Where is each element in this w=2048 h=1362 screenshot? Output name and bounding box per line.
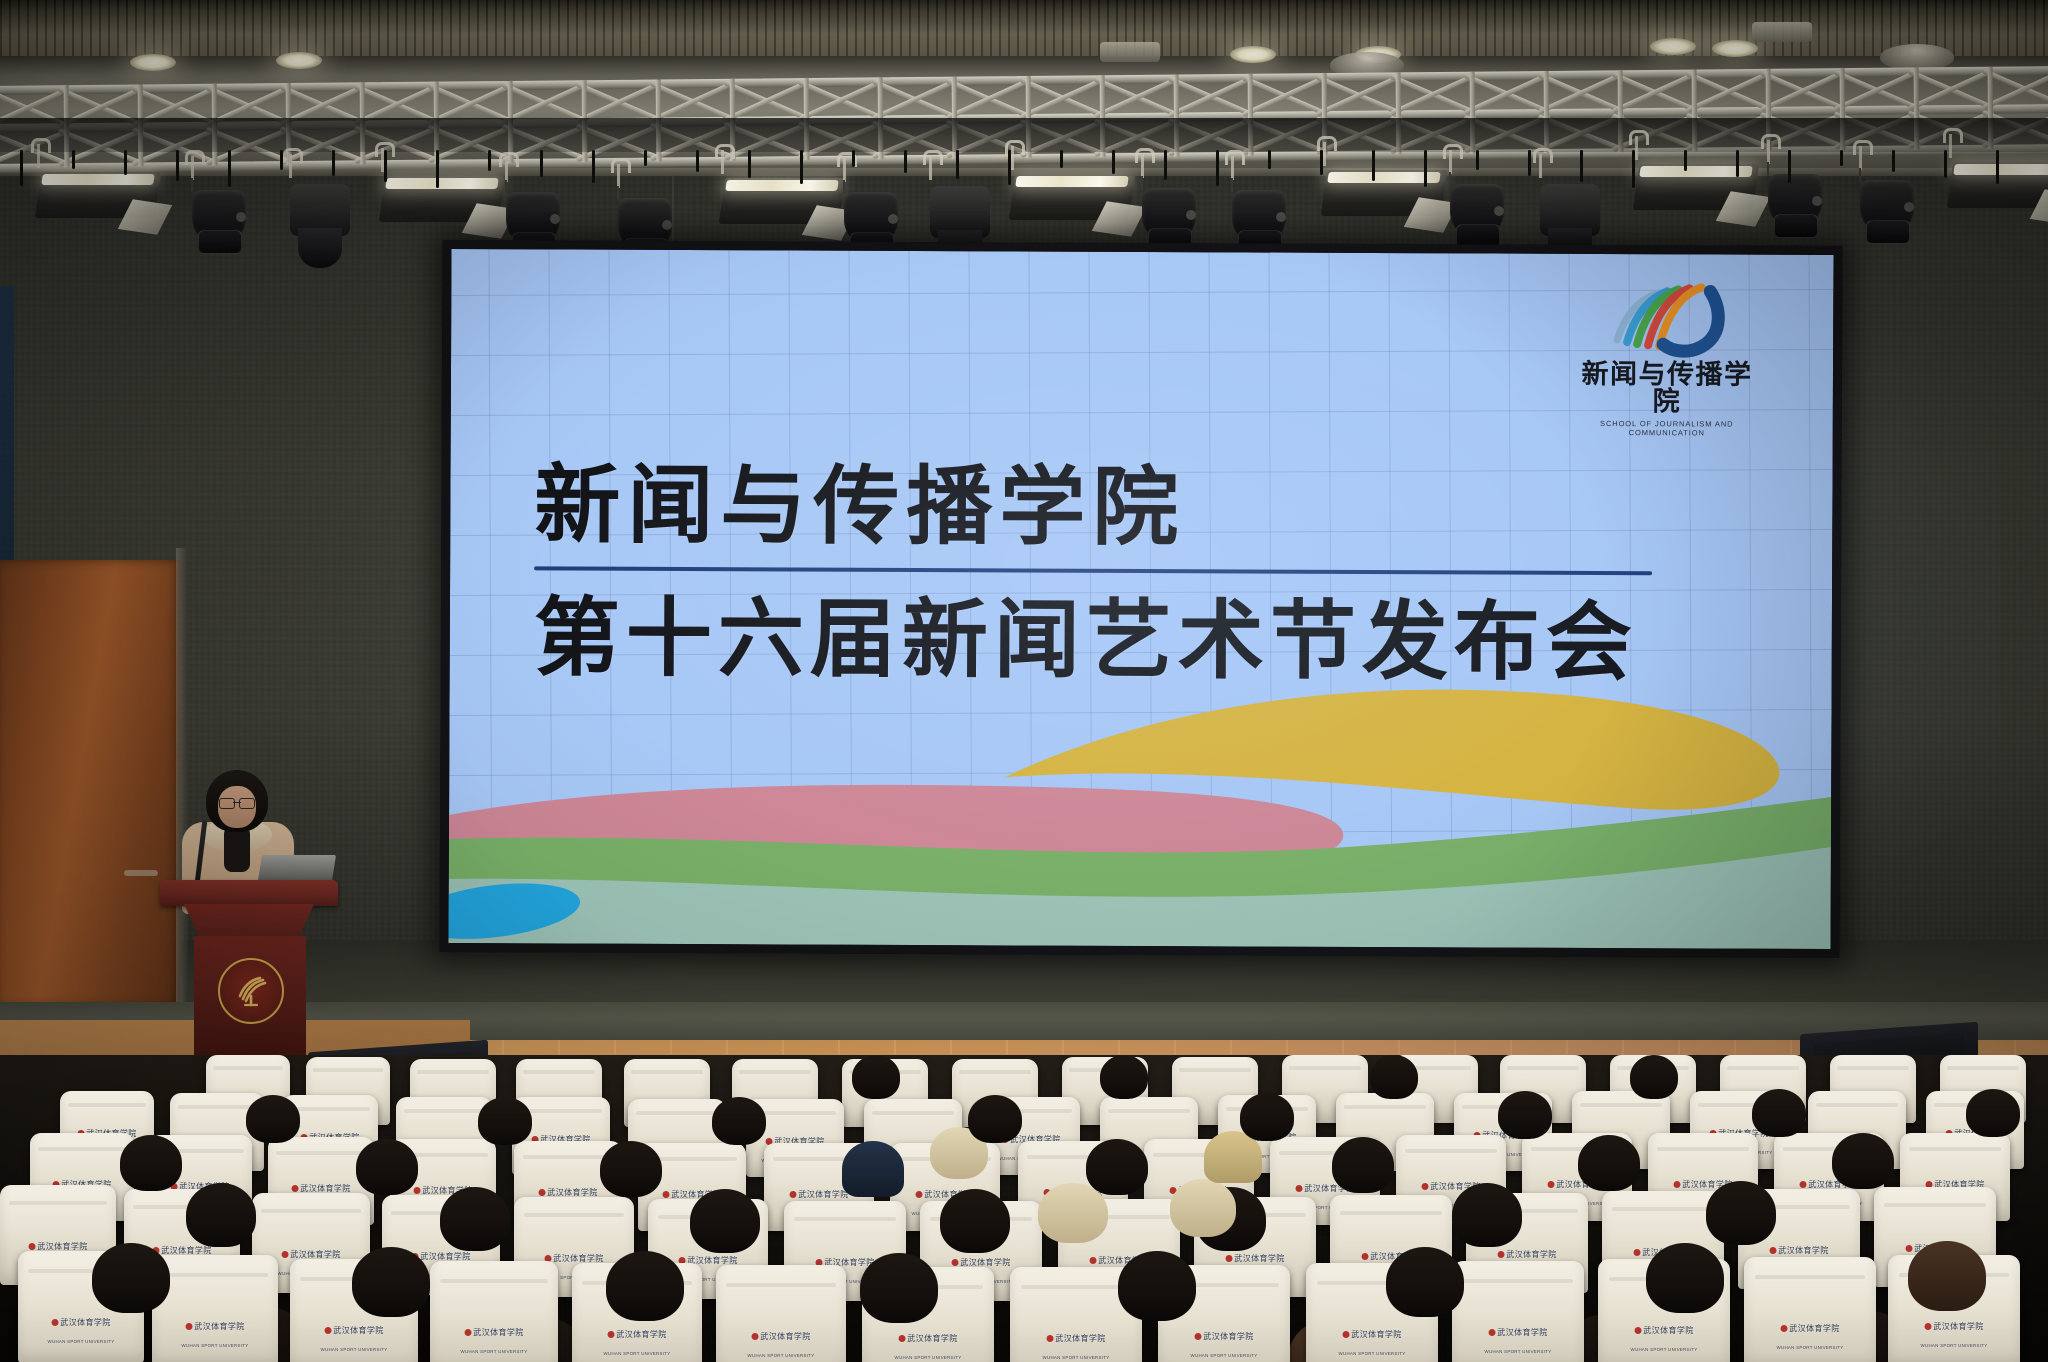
- audience-member-head: [92, 1243, 170, 1313]
- audience-member-head: [1170, 1179, 1236, 1237]
- ceiling-downlight: [1230, 46, 1276, 63]
- chair-cover-logo: 武汉体育学院WUHAN SPORT UNIVERSITY: [748, 1326, 815, 1362]
- audience-member-head: [690, 1189, 760, 1253]
- audience-member-head: [1240, 1093, 1294, 1141]
- chair-cover-logo: 武汉体育学院WUHAN SPORT UNIVERSITY: [461, 1322, 528, 1358]
- lighting-cable: [904, 150, 907, 173]
- podium-neck: [184, 904, 314, 938]
- audience-member-head: [1908, 1241, 1986, 1311]
- chair-cover-logo: 武汉体育学院WUHAN SPORT UNIVERSITY: [321, 1320, 388, 1356]
- podium: [168, 880, 330, 1056]
- audience-seating: 武汉体育学院WUHAN SPORT UNIVERSITY武汉体育学院WUHAN …: [0, 1055, 2048, 1362]
- lighting-cable: [1008, 150, 1011, 185]
- lighting-cable: [644, 150, 647, 166]
- audience-member-head: [842, 1141, 904, 1197]
- audience-chair: 武汉体育学院WUHAN SPORT UNIVERSITY: [152, 1255, 278, 1362]
- podium-laptop[interactable]: [258, 855, 336, 881]
- lighting-cable: [332, 150, 335, 176]
- ceiling-vent: [1752, 22, 1812, 42]
- lighting-cable: [1736, 150, 1739, 177]
- lighting-cable: [436, 150, 439, 188]
- lighting-cable: [124, 150, 127, 175]
- stage-door[interactable]: [0, 560, 180, 1006]
- ceiling-downlight: [1712, 40, 1758, 57]
- audience-member-head: [1630, 1055, 1678, 1099]
- lighting-cable: [696, 150, 699, 172]
- audience-member-head: [186, 1183, 256, 1247]
- lighting-cable: [1164, 150, 1167, 180]
- ceiling-downlight: [1650, 38, 1696, 55]
- audience-member-head: [1118, 1251, 1196, 1321]
- audience-member-head: [712, 1097, 766, 1145]
- chair-cover-logo: 武汉体育学院WUHAN SPORT UNIVERSITY: [182, 1316, 249, 1352]
- audience-member-head: [246, 1095, 300, 1143]
- audience-member-head: [1752, 1089, 1806, 1137]
- lighting-cable: [1840, 150, 1843, 166]
- chair-cover-logo: 武汉体育学院WUHAN SPORT UNIVERSITY: [1631, 1320, 1698, 1356]
- lighting-cable: [1996, 150, 1999, 184]
- audience-member-head: [440, 1187, 510, 1251]
- lighting-cable: [1320, 150, 1323, 175]
- audience-chair: 武汉体育学院WUHAN SPORT UNIVERSITY: [1452, 1261, 1584, 1362]
- lighting-cable: [1892, 150, 1895, 172]
- chair-cover-logo: 武汉体育学院WUHAN SPORT UNIVERSITY: [1043, 1328, 1110, 1362]
- lighting-cable: [1788, 150, 1791, 183]
- speaker-inner-top: [224, 826, 250, 872]
- lighting-cable: [20, 150, 23, 186]
- chair-cover-logo: 武汉体育学院WUHAN SPORT UNIVERSITY: [1777, 1318, 1844, 1354]
- audience-member-head: [1386, 1247, 1464, 1317]
- glasses-icon: [219, 798, 255, 807]
- screen-bezel: [439, 240, 1842, 958]
- chair-cover-logo: 武汉体育学院WUHAN SPORT UNIVERSITY: [48, 1312, 115, 1348]
- chair-cover-logo: 武汉体育学院WUHAN SPORT UNIVERSITY: [1485, 1322, 1552, 1358]
- university-emblem: [218, 958, 284, 1024]
- university-emblem-icon: [234, 974, 268, 1008]
- wall-panel-accent: [0, 286, 14, 606]
- ceiling-vent: [1100, 42, 1160, 62]
- lighting-cable: [228, 150, 231, 187]
- audience-member-head: [600, 1141, 662, 1197]
- audience-member-head: [1100, 1055, 1148, 1099]
- audience-member-head: [968, 1095, 1022, 1143]
- lighting-cable: [1944, 150, 1947, 178]
- lighting-cable: [1112, 150, 1115, 174]
- lighting-cable: [1528, 150, 1531, 176]
- lighting-cable: [852, 150, 855, 167]
- lighting-cable: [1632, 150, 1635, 188]
- lighting-cable: [1684, 150, 1687, 171]
- audience-member-head: [1086, 1139, 1148, 1195]
- lighting-cable: [384, 150, 387, 182]
- audience-member-head: [356, 1139, 418, 1195]
- lighting-cable: [592, 150, 595, 183]
- lighting-cable: [1476, 150, 1479, 170]
- audience-member-head: [352, 1247, 430, 1317]
- lighting-cable: [72, 150, 75, 169]
- lighting-cable: [1060, 150, 1063, 168]
- audience-member-head: [1578, 1135, 1640, 1191]
- audience-member-head: [852, 1055, 900, 1099]
- lighting-cable: [488, 150, 491, 171]
- lighting-cable: [800, 150, 803, 184]
- podium-top: [160, 880, 338, 906]
- lighting-cable: [956, 150, 959, 179]
- lighting-cable: [176, 150, 179, 181]
- chair-cover-logo: 武汉体育学院WUHAN SPORT UNIVERSITY: [1191, 1326, 1258, 1362]
- chair-cover-logo: 武汉体育学院WUHAN SPORT UNIVERSITY: [895, 1328, 962, 1362]
- audience-member-head: [1966, 1089, 2020, 1137]
- lighting-cable: [1424, 150, 1427, 187]
- audience-member-head: [1370, 1055, 1418, 1099]
- lighting-cable: [1216, 150, 1219, 186]
- ceiling-downlight: [276, 52, 322, 69]
- door-handle-icon: [124, 870, 158, 876]
- auditorium-photo: 新闻与传播学院 SCHOOL OF JOURNALISM AND COMMUNI…: [0, 0, 2048, 1362]
- lighting-cable: [1268, 150, 1271, 169]
- audience-member-head: [1332, 1137, 1394, 1193]
- audience-chair: 武汉体育学院WUHAN SPORT UNIVERSITY: [430, 1261, 558, 1362]
- audience-chair: 武汉体育学院WUHAN SPORT UNIVERSITY: [1744, 1257, 1876, 1362]
- chair-cover-logo: 武汉体育学院WUHAN SPORT UNIVERSITY: [604, 1324, 671, 1360]
- led-screen[interactable]: 新闻与传播学院 SCHOOL OF JOURNALISM AND COMMUNI…: [439, 240, 1842, 958]
- audience-member-head: [860, 1253, 938, 1323]
- lighting-cable: [1580, 150, 1583, 182]
- lighting-cable: [748, 150, 751, 178]
- audience-member-head: [1498, 1091, 1552, 1139]
- chair-cover-logo: 武汉体育学院WUHAN SPORT UNIVERSITY: [1921, 1316, 1988, 1352]
- audience-member-head: [1646, 1243, 1724, 1313]
- audience-member-head: [606, 1251, 684, 1321]
- audience-member-head: [1038, 1183, 1108, 1243]
- audience-member-head: [478, 1097, 532, 1145]
- ceiling-downlight: [130, 54, 176, 71]
- lighting-cable: [1372, 150, 1375, 181]
- lighting-cable: [280, 150, 283, 170]
- lighting-cable: [540, 150, 543, 177]
- audience-member-head: [940, 1189, 1010, 1253]
- audience-chair: 武汉体育学院WUHAN SPORT UNIVERSITY: [716, 1265, 846, 1362]
- audience-member-head: [1832, 1133, 1894, 1189]
- audience-member-head: [1706, 1181, 1776, 1245]
- chair-cover-logo: 武汉体育学院WUHAN SPORT UNIVERSITY: [1339, 1324, 1406, 1360]
- audience-member-head: [1452, 1183, 1522, 1247]
- audience-member-head: [120, 1135, 182, 1191]
